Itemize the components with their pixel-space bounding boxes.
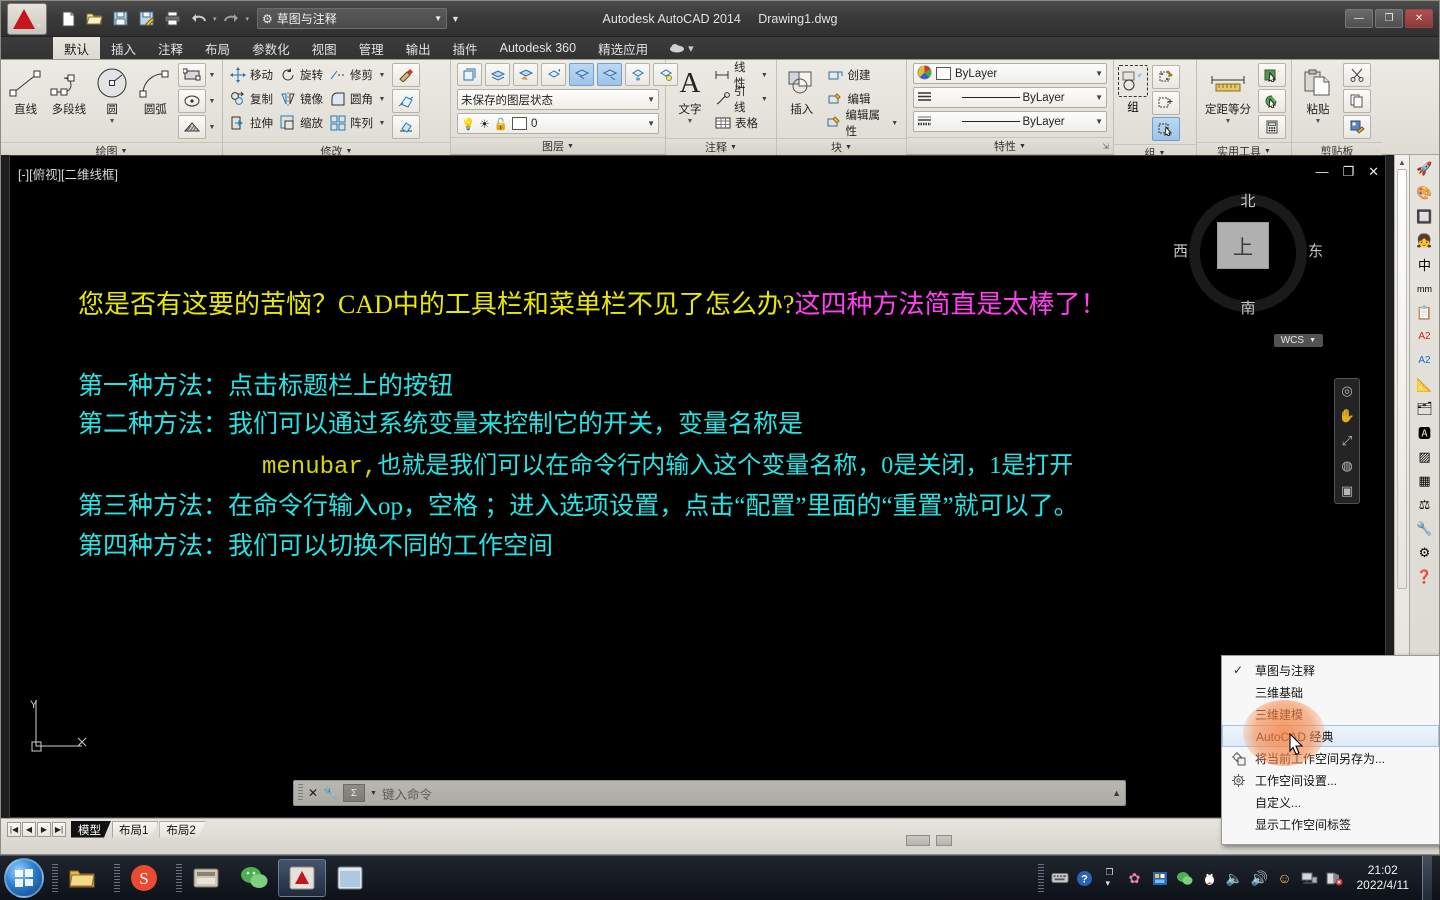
clock-time: 21:02 <box>1357 863 1410 878</box>
chevron-down-icon[interactable]: ▼ <box>109 118 116 125</box>
tool-insert-block[interactable]: 插入 <box>781 63 822 117</box>
drawing-canvas[interactable]: [-][俯视][二维线框] — ❐ ✕ 上 北 南 西 东 WCS ▼ ◎ <box>9 155 1386 818</box>
current-layer-combo[interactable]: 💡 ☀ 🔓 0 ▼ <box>457 113 659 134</box>
tool-copy[interactable]: 复制 <box>227 87 275 111</box>
keyboard-icon[interactable] <box>1051 872 1069 884</box>
layer-state-value: 未保存的图层状态 <box>461 92 553 108</box>
svg-text:S: S <box>139 869 148 888</box>
taskbar-app-window-icon[interactable] <box>326 859 374 897</box>
layout-next-button[interactable]: ▶ <box>37 822 51 837</box>
move-icon <box>229 66 247 84</box>
line-5-body: 我们可以切换不同的工作空间 <box>228 533 553 560</box>
drawing-line-5: 第四种方法：我们可以切换不同的工作空间 <box>78 526 553 562</box>
taskbar-sogou-icon[interactable]: S <box>120 859 168 897</box>
leader-icon <box>714 90 731 108</box>
panel-layers-title[interactable]: 图层 ▼ <box>451 137 665 154</box>
status-segment-2[interactable] <box>936 835 952 846</box>
workspace-switcher-combo[interactable]: ⚙ 草图与注释 ▼ <box>257 8 447 29</box>
chevron-down-icon[interactable]: ▼ <box>647 119 655 128</box>
group-edit-icon[interactable] <box>1152 65 1180 89</box>
chevron-down-icon[interactable]: ▼ <box>647 95 655 104</box>
panel-layers: 未保存的图层状态 ▼ 💡 ☀ 🔓 0 ▼ 图层 ▼ <box>451 60 666 154</box>
ellipse-dropdown-caret-icon[interactable]: ▼ <box>206 89 218 113</box>
taskbar-clock[interactable]: 21:02 2022/4/11 <box>1351 863 1416 893</box>
system-tray: ? ❐▾ ✿ 🔈 🔊 ☺ 21:02 2022/4/11 <box>1030 856 1440 900</box>
line-5-label: 第四种方法： <box>78 533 228 560</box>
ellipse-icon[interactable] <box>178 89 206 113</box>
chevron-down-icon[interactable]: ▼ <box>1095 69 1103 78</box>
view-cube-east-label[interactable]: 东 <box>1308 240 1323 261</box>
color-wheel-icon <box>917 65 932 83</box>
explode-icon[interactable] <box>392 89 420 113</box>
view-cube-north-label[interactable]: 北 <box>1240 190 1255 211</box>
rotate-icon <box>279 66 297 84</box>
fillet-icon <box>329 90 347 108</box>
lineweight-combo[interactable]: ByLayer ▼ <box>913 111 1107 132</box>
chevron-down-icon[interactable]: ▼ <box>1225 118 1232 125</box>
color-value: ByLayer <box>955 68 997 80</box>
palette-a2-blue-icon[interactable]: A2 <box>1414 351 1436 370</box>
workspace-menu-item-label: 草图与注释 <box>1255 662 1315 679</box>
lineweight-icon <box>917 114 932 130</box>
tool-leader[interactable]: 引线▼ <box>712 87 772 111</box>
status-bar-segments <box>906 835 1086 846</box>
tab-manage[interactable]: 管理 <box>348 37 395 59</box>
palette-a2-red-icon[interactable]: A2 <box>1414 327 1436 346</box>
viewport-minimize-button[interactable]: — <box>1315 164 1328 180</box>
ucs-icon: Y <box>28 694 94 759</box>
panel-block: 插入 创建 编辑 编辑属性▼ 块 ▼ <box>777 60 907 154</box>
erase-icon[interactable] <box>392 115 420 139</box>
volume-icon[interactable]: 🔊 <box>1251 870 1269 887</box>
show-hidden-icons-icon[interactable]: ❐▾ <box>1101 867 1119 889</box>
layer-state-combo[interactable]: 未保存的图层状态 ▼ <box>457 89 659 110</box>
dimension-dropdown-caret-icon[interactable]: ▼ <box>759 63 770 87</box>
tab-autodesk360[interactable]: Autodesk 360 <box>489 37 587 59</box>
command-input[interactable]: 键入命令 <box>382 784 432 803</box>
tool-measure-label: 定距等分 <box>1205 101 1251 117</box>
block-edit-icon <box>826 90 844 108</box>
panel-utilities: 定距等分 ▼ 实用工具 ▼ <box>1197 60 1292 154</box>
zoom-extents-icon[interactable]: ⤢ <box>1342 433 1352 449</box>
orbit-icon[interactable]: ◍ <box>1341 458 1352 474</box>
polyline-icon <box>49 66 89 100</box>
ribbon-cloud-button[interactable]: ▾ <box>669 37 694 59</box>
save-workspace-icon <box>1226 751 1250 766</box>
arc-icon <box>137 66 173 100</box>
chevron-down-icon: ▼ <box>845 144 852 151</box>
application-menu-button[interactable]: ▾ <box>7 3 47 35</box>
chevron-down-icon: ▼ <box>346 148 353 155</box>
restore-button[interactable]: ❐ <box>1375 9 1403 28</box>
match-properties-icon[interactable] <box>392 63 420 87</box>
tool-measure[interactable]: 定距等分 ▼ <box>1201 63 1255 125</box>
tool-trim-label: 修剪 <box>350 67 373 83</box>
status-segment-1[interactable] <box>906 835 930 846</box>
chevron-down-icon[interactable]: ▼ <box>1309 337 1316 344</box>
palette-hatch-icon[interactable]: ▨ <box>1414 447 1436 466</box>
tool-paste[interactable]: 粘贴 ▼ <box>1296 63 1340 125</box>
layer-match-icon[interactable] <box>513 63 538 86</box>
window-controls: — ❐ ✕ <box>1345 9 1439 28</box>
linetype-icon <box>917 90 932 106</box>
tab-default[interactable]: 默认 <box>53 37 100 59</box>
line-4-body: 在命令行输入op，空格 ；进入选项设置，点击“配置”里面的“重置”就可以了。 <box>228 493 1079 520</box>
array-icon <box>329 114 347 132</box>
close-icon[interactable]: ✕ <box>308 786 318 800</box>
palette-sys-variable-icon[interactable]: 🚀 <box>1414 159 1436 178</box>
tool-trim[interactable]: 修剪▼ <box>327 63 390 87</box>
fillet-dropdown-caret-icon[interactable]: ▼ <box>376 87 388 111</box>
tool-stretch-label: 拉伸 <box>250 115 273 131</box>
palette-tools-icon[interactable]: 🔧 <box>1414 519 1436 538</box>
layer-off-icon[interactable] <box>569 63 594 86</box>
wechat-tray-icon[interactable] <box>1176 871 1194 886</box>
panel-annotation-title[interactable]: 注释 ▼ <box>666 138 776 155</box>
tool-arc-label: 圆弧 <box>144 101 167 117</box>
viewport-close-button[interactable]: ✕ <box>1368 164 1379 180</box>
line-2-label: 第二种方法： <box>78 411 228 438</box>
show-desktop-button[interactable] <box>1422 856 1432 900</box>
taskbar-autocad-icon[interactable] <box>278 859 326 897</box>
tool-block-create-label: 创建 <box>847 67 870 83</box>
chevron-down-icon[interactable]: ▼ <box>434 14 442 23</box>
quick-select-icon[interactable] <box>1258 63 1286 87</box>
redo-dropdown-caret-icon[interactable]: ▾ <box>246 15 250 23</box>
panel-layers-label: 图层 <box>542 138 564 154</box>
heading-part-1: 您是否有这要的苦恼？ <box>78 290 338 319</box>
undo-icon[interactable] <box>187 7 210 30</box>
layer-make-current-icon[interactable] <box>485 63 510 86</box>
panel-annotation-label: 注释 <box>705 139 727 155</box>
layout-tab-layout1[interactable]: 布局1 <box>112 821 158 838</box>
app-title-text: Autodesk AutoCAD 2014 <box>603 12 741 26</box>
tool-stretch[interactable]: 拉伸 <box>227 111 275 135</box>
stretch-icon <box>229 114 247 132</box>
palette-text-icon[interactable]: 🅰 <box>1414 423 1436 442</box>
panel-properties-title[interactable]: 特性 ▼ ⇲ <box>907 137 1113 154</box>
block-attribute-icon <box>826 114 842 132</box>
chevron-down-icon: ▾ <box>37 21 41 30</box>
flower-icon[interactable]: ✿ <box>1126 870 1144 887</box>
tool-block-attribute-label: 编辑属性 <box>845 107 886 139</box>
draw-mini-buttons: ▼ ▼ ▼ <box>178 63 218 139</box>
layer-unlock-icon[interactable]: 🔓 <box>494 117 508 131</box>
measure-icon <box>1208 66 1248 100</box>
panel-block-label: 块 <box>831 139 842 155</box>
pan-hand-icon[interactable]: ✋ <box>1339 408 1355 424</box>
calculator-icon[interactable] <box>1258 115 1286 139</box>
workspace-menu-item-label: 自定义... <box>1255 794 1301 811</box>
layout-last-button[interactable]: ▶| <box>52 822 66 837</box>
line-3-body: 也就是我们可以在命令行内输入这个变量名称，0是关闭，1是打开 <box>377 453 1073 479</box>
panel-annotation: A 文字 ▼ 线性▼ 引线▼ 表格 注释 ▼ <box>666 60 777 154</box>
viewport-restore-button[interactable]: ❐ <box>1342 164 1354 180</box>
layer-toolbar <box>457 63 678 86</box>
tool-table[interactable]: 表格 <box>712 111 772 135</box>
hatch-icon[interactable] <box>178 115 206 139</box>
autocad-logo-icon <box>13 9 35 29</box>
tool-fillet-label: 圆角 <box>350 91 373 107</box>
workspace-menu-item-label: 三维基础 <box>1255 684 1303 701</box>
ungroup-icon[interactable] <box>1152 91 1180 115</box>
customize-wrench-icon[interactable]: 🔧 <box>323 786 338 800</box>
paste-icon <box>1302 66 1334 100</box>
block-attribute-dropdown-caret-icon[interactable]: ▼ <box>889 111 900 135</box>
line-4-label: 第三种方法： <box>78 493 228 520</box>
title-bar: ▾ ▾ ▾ <box>1 1 1439 37</box>
panel-block-title[interactable]: 块 ▼ <box>777 138 906 155</box>
command-line[interactable]: ✕ 🔧 Σ ▼ 键入命令 ▲ <box>293 780 1126 806</box>
tool-circle-label: 圆 <box>106 101 118 117</box>
qq-icon[interactable] <box>1201 870 1219 886</box>
scrollbar-thumb[interactable] <box>1397 169 1407 589</box>
tab-featured-apps[interactable]: 精选应用 <box>587 37 659 59</box>
command-expand-icon[interactable]: ▲ <box>1112 788 1121 798</box>
tool-line[interactable]: 直线 <box>5 63 46 117</box>
tab-layout[interactable]: 布局 <box>194 37 241 59</box>
svg-text:Y: Y <box>30 699 38 711</box>
layer-on-bulb-icon[interactable]: 💡 <box>461 117 475 131</box>
trim-icon <box>329 66 347 84</box>
tool-fillet[interactable]: 圆角▼ <box>327 87 390 111</box>
viewport-window-controls: — ❐ ✕ <box>1315 164 1379 180</box>
panel-draw: 直线 多段线 圆 ▼ <box>1 60 223 154</box>
palette-ime-icon[interactable]: 中 <box>1414 255 1436 274</box>
clock-date: 2022/4/11 <box>1357 878 1410 893</box>
text-icon: A <box>680 66 701 100</box>
workspace-menu-item-autocad-classic[interactable]: AutoCAD 经典 <box>1222 725 1439 747</box>
paste-special-icon[interactable] <box>1343 115 1371 139</box>
redo-icon[interactable] <box>220 7 243 30</box>
palette-color-icon[interactable]: 🎨 <box>1414 183 1436 202</box>
tool-move[interactable]: 移动 <box>227 63 275 87</box>
document-name-text: Drawing1.dwg <box>758 12 837 26</box>
undo-dropdown-caret-icon[interactable]: ▾ <box>213 15 217 23</box>
tool-block-create[interactable]: 创建 <box>824 63 902 87</box>
view-cube-west-label[interactable]: 西 <box>1173 240 1188 261</box>
cut-icon[interactable] <box>1343 63 1371 87</box>
view-cube[interactable]: 上 北 南 西 东 <box>1189 194 1307 312</box>
workspace-menu-item-customize[interactable]: 自定义... <box>1222 791 1439 813</box>
chevron-down-icon: ▼ <box>121 148 128 155</box>
rectangle-icon[interactable] <box>178 63 206 87</box>
minimize-button[interactable]: — <box>1345 9 1373 28</box>
smiley-icon[interactable]: ☺ <box>1276 870 1294 886</box>
panel-group-button-label: 组 <box>1127 99 1139 115</box>
security-alert-icon[interactable] <box>1326 871 1344 886</box>
tool-rotate[interactable]: 旋转 <box>277 63 325 87</box>
palette-scale-icon[interactable]: ⚖ <box>1414 495 1436 514</box>
taskbar-folder-icon[interactable] <box>182 859 230 897</box>
tool-text-label: 文字 <box>679 101 702 117</box>
workspace-menu-item-drafting[interactable]: ✓ 草图与注释 <box>1222 659 1439 681</box>
palette-list-icon[interactable]: 📋 <box>1414 303 1436 322</box>
tool-array[interactable]: 阵列▼ <box>327 111 390 135</box>
layer-isolate-icon[interactable] <box>597 63 622 86</box>
palette-table-icon[interactable]: ▦ <box>1414 471 1436 490</box>
taskbar-wechat-icon[interactable] <box>230 859 278 897</box>
layout-first-button[interactable]: |◀ <box>7 822 21 837</box>
command-line-grip[interactable] <box>298 784 303 802</box>
layer-color-swatch[interactable] <box>512 117 527 130</box>
chevron-down-icon[interactable]: ▼ <box>1095 93 1103 102</box>
tool-circle[interactable]: 圆 ▼ <box>92 63 133 125</box>
tool-scale[interactable]: 缩放 <box>277 111 325 135</box>
chevron-down-icon[interactable]: ▼ <box>687 118 694 125</box>
workspace-menu-item-label: 将当前工作空间另存为... <box>1255 750 1385 767</box>
panel-clipboard: 粘贴 ▼ 剪贴板 <box>1292 60 1382 154</box>
mirror-icon <box>279 90 297 108</box>
viewport-label[interactable]: [-][俯视][二维线框] <box>18 164 118 183</box>
start-button[interactable] <box>4 858 44 898</box>
tool-mirror[interactable]: 镜像 <box>277 87 325 111</box>
check-icon: ✓ <box>1226 663 1250 677</box>
tab-annotate[interactable]: 注释 <box>147 37 194 59</box>
array-dropdown-caret-icon[interactable]: ▼ <box>376 111 388 135</box>
tab-parametric[interactable]: 参数化 <box>241 37 301 59</box>
tool-mirror-label: 镜像 <box>300 91 323 107</box>
drawing-heading: 您是否有这要的苦恼？CAD中的工具栏和菜单栏不见了怎么办?这四种方法简直是太棒了… <box>78 284 1106 321</box>
palette-settings-icon[interactable]: ⚙ <box>1414 543 1436 562</box>
save-as-icon[interactable] <box>135 7 158 30</box>
navigation-bar: ◎ ✋ ⤢ ◍ ▣ <box>1334 378 1360 504</box>
steering-wheel-icon[interactable]: ◎ <box>1341 383 1352 399</box>
workspace-menu: ✓ 草图与注释 三维基础 三维建模 AutoCAD 经典 将当前工作空间另存为.… <box>1221 655 1440 845</box>
line-2-body: 我们可以通过系统变量来控制它的开关，变量名称是 <box>228 411 803 438</box>
tab-addins[interactable]: 插件 <box>442 37 489 59</box>
qat-overflow-caret-icon[interactable]: ▼ <box>451 14 460 24</box>
copy-clipboard-icon[interactable] <box>1343 89 1371 113</box>
workspace-menu-item-settings[interactable]: 工作空间设置... <box>1222 769 1439 791</box>
tray-grip[interactable] <box>1038 864 1044 892</box>
layer-previous-icon[interactable] <box>541 63 566 86</box>
scale-icon <box>279 114 297 132</box>
command-prompt-icon[interactable]: Σ <box>343 784 365 802</box>
drawing-line-1: 第一种方法：点击标题栏上的按钮 <box>78 366 453 402</box>
chevron-down-icon[interactable]: ▼ <box>1315 118 1322 125</box>
tab-output[interactable]: 输出 <box>395 37 442 59</box>
palette-blocks-icon[interactable]: 🔲 <box>1414 207 1436 226</box>
chevron-down-icon: ▼ <box>567 143 574 150</box>
block-create-icon <box>826 66 844 84</box>
view-cube-top-face[interactable]: 上 <box>1217 222 1269 269</box>
palette-help-icon[interactable]: ❓ <box>1414 567 1436 586</box>
layout-prev-button[interactable]: ◀ <box>22 822 36 837</box>
palette-layer-icon[interactable]: 🗂 <box>1414 399 1436 418</box>
current-layer-value: 0 <box>531 118 537 130</box>
open-icon[interactable] <box>83 7 106 30</box>
tool-text[interactable]: A 文字 ▼ <box>670 63 710 125</box>
tool-insert-label: 插入 <box>790 101 813 117</box>
group-selection-icon[interactable] <box>1152 117 1180 141</box>
rectangle-dropdown-caret-icon[interactable]: ▼ <box>206 63 218 87</box>
table-icon <box>714 114 732 132</box>
line-3-variable: menubar, <box>262 454 377 481</box>
network-icon[interactable] <box>1301 871 1319 885</box>
gear-icon: ⚙ <box>262 12 273 26</box>
tab-view[interactable]: 视图 <box>301 37 348 59</box>
panel-properties-label: 特性 <box>994 138 1016 154</box>
trim-dropdown-caret-icon[interactable]: ▼ <box>376 63 388 87</box>
tool-move-label: 移动 <box>250 67 273 83</box>
save-icon[interactable] <box>109 7 132 30</box>
mouse-cursor-icon <box>1289 733 1305 760</box>
view-cube-south-label[interactable]: 南 <box>1240 297 1255 318</box>
new-icon[interactable] <box>57 7 80 30</box>
chevron-down-icon[interactable]: ▼ <box>1095 117 1103 126</box>
tool-polyline[interactable]: 多段线 <box>48 63 89 117</box>
line-icon <box>7 66 45 100</box>
panel-modify: 移动 复制 拉伸 旋转 镜像 缩放 修剪▼ 圆角▼ 阵列▼ <box>223 60 451 154</box>
chevron-down-icon: ▾ <box>688 42 694 55</box>
copy-icon <box>229 90 247 108</box>
workspace-menu-item-3d-basics[interactable]: 三维基础 <box>1222 681 1439 703</box>
tool-table-label: 表格 <box>735 115 758 131</box>
linetype-combo[interactable]: ByLayer ▼ <box>913 87 1107 108</box>
taskbar-explorer-icon[interactable] <box>58 859 106 897</box>
layout-tab-layout2[interactable]: 布局2 <box>159 821 205 838</box>
quick-calc-icon[interactable] <box>1258 89 1286 113</box>
svg-text:?: ? <box>1081 873 1088 885</box>
layer-freeze-icon[interactable] <box>625 63 650 86</box>
tool-scale-label: 缩放 <box>300 115 323 131</box>
heading-part-3: 这四种方法简直是太棒了！ <box>794 290 1106 319</box>
layout-tab-model[interactable]: 模型 <box>71 821 111 838</box>
circle-icon <box>95 66 129 100</box>
palette-dim-icon[interactable]: 📐 <box>1414 375 1436 394</box>
scroll-up-arrow-icon[interactable]: ▲ <box>1395 155 1409 167</box>
tab-insert[interactable]: 插入 <box>100 37 147 59</box>
hatch-dropdown-caret-icon[interactable]: ▼ <box>206 115 218 139</box>
workspace-menu-item-save-as[interactable]: 将当前工作空间另存为... <box>1222 747 1439 769</box>
properties-dialog-launcher-icon[interactable]: ⇲ <box>1102 142 1109 151</box>
media-icon[interactable] <box>1151 871 1169 886</box>
layer-thaw-sun-icon[interactable]: ☀ <box>479 117 489 131</box>
group-icon[interactable] <box>1118 65 1148 97</box>
chevron-down-icon: ▼ <box>730 144 737 151</box>
tool-block-edit-label: 编辑 <box>847 91 870 107</box>
palette-avatar-icon[interactable]: 👧 <box>1414 231 1436 250</box>
tool-arc[interactable]: 圆弧 <box>135 63 176 117</box>
tool-copy-label: 复制 <box>250 91 273 107</box>
show-motion-icon[interactable]: ▣ <box>1341 483 1353 499</box>
color-combo[interactable]: ByLayer ▼ <box>913 63 1107 84</box>
workspace-menu-item-show-label[interactable]: 显示工作空间标签 <box>1222 813 1439 835</box>
workspace-menu-item-label: 工作空间设置... <box>1255 772 1337 789</box>
dimension-linear-icon <box>714 66 731 84</box>
linetype-value: ByLayer <box>1022 92 1064 104</box>
palette-units-icon[interactable]: mm <box>1414 279 1436 298</box>
layer-properties-icon[interactable] <box>457 63 482 86</box>
speaker-mute-icon[interactable]: 🔈 <box>1226 870 1244 887</box>
layout-nav-arrows: |◀ ◀ ▶ ▶| <box>7 822 66 837</box>
chevron-down-icon[interactable]: ▼ <box>370 790 377 797</box>
drawing-line-4: 第三种方法：在命令行输入op，空格 ；进入选项设置，点击“配置”里面的“重置”就… <box>78 486 1079 522</box>
workspace-menu-item-3d-modeling[interactable]: 三维建模 <box>1222 703 1439 725</box>
tool-line-label: 直线 <box>14 101 37 117</box>
leader-dropdown-caret-icon[interactable]: ▼ <box>759 87 770 111</box>
workspace-menu-item-label: 显示工作空间标签 <box>1255 816 1351 833</box>
workspace-current-label: 草图与注释 <box>277 10 430 27</box>
plot-icon[interactable] <box>161 7 184 30</box>
ribbon-panels: 直线 多段线 圆 ▼ <box>1 60 1439 155</box>
close-button[interactable]: ✕ <box>1405 9 1433 28</box>
tool-block-attribute[interactable]: 编辑属性▼ <box>824 111 902 135</box>
wcs-selector[interactable]: WCS ▼ <box>1274 334 1323 347</box>
tool-array-label: 阵列 <box>350 115 373 131</box>
help-icon[interactable]: ? <box>1076 870 1094 887</box>
